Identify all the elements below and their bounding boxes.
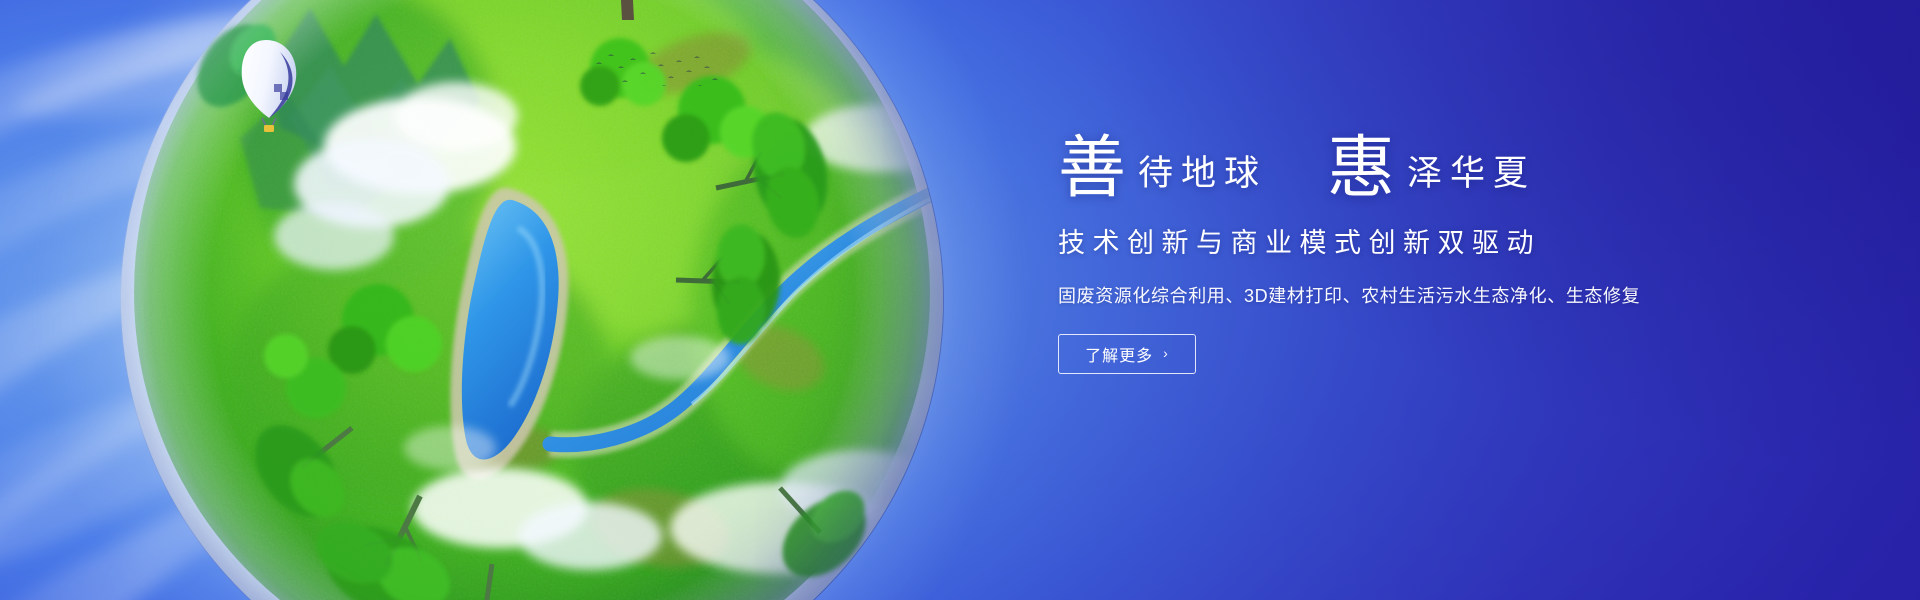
bird-flock [592, 46, 722, 96]
headline-phrase1-small: 待地球 [1126, 156, 1267, 197]
description-line: 固废资源化综合利用、3D建材打印、农村生活污水生态净化、生态修复 [1058, 282, 1818, 308]
hot-air-balloon [236, 38, 302, 138]
headline-phrase2-big: 惠 [1327, 136, 1395, 201]
banner-content: 善 待地球 惠 泽华夏 技术创新与商业模式创新双驱动 固废资源化综合利用、3D建… [1058, 132, 1818, 374]
learn-more-button[interactable]: 了解更多 › [1058, 334, 1196, 374]
hero-banner: 善 待地球 惠 泽华夏 技术创新与商业模式创新双驱动 固废资源化综合利用、3D建… [0, 0, 1920, 600]
headline-phrase1-big: 善 [1058, 136, 1126, 201]
chevron-right-icon: › [1163, 345, 1169, 361]
headline-phrase2-small: 泽华夏 [1395, 156, 1536, 197]
learn-more-label: 了解更多 [1085, 342, 1153, 366]
subheadline: 技术创新与商业模式创新双驱动 [1058, 221, 1818, 260]
headline: 善 待地球 惠 泽华夏 [1058, 132, 1818, 197]
